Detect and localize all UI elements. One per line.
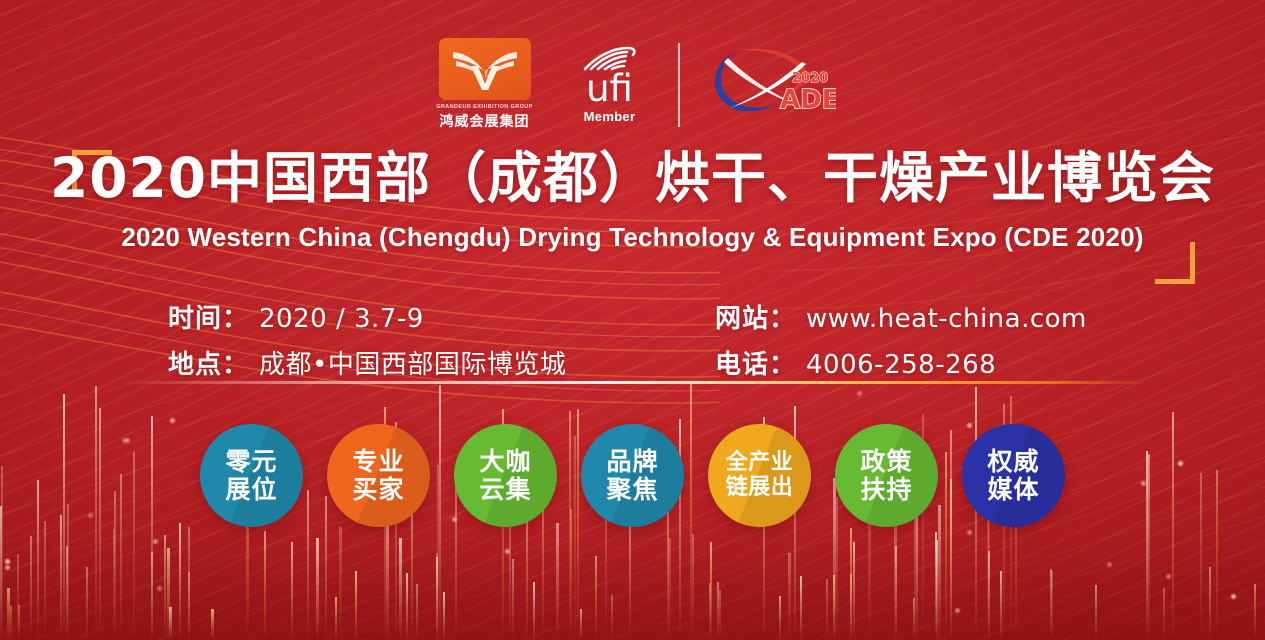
light-streak [436,553,438,640]
light-streak [1095,585,1097,640]
light-streak [1209,567,1211,640]
feature-highlights-row: 零元展位专业买家大咖云集品牌聚焦全产业链展出政策扶持权威媒体 [0,424,1265,527]
ufi-member-label: Member [584,109,636,124]
feature-line-1: 零元 [225,448,277,476]
event-info-block: 时间： 2020 / 3.7-9 地点： 成都•中国西部国际博览城 网站： ww… [0,298,1265,381]
light-streak [10,606,12,640]
light-particle [4,564,11,571]
light-particle [1106,561,1113,568]
event-website-value[interactable]: www.heat-china.com [806,304,1087,334]
light-streak [30,536,32,640]
light-streak [988,551,990,640]
event-venue-value: 成都•中国西部国际博览城 [259,344,566,381]
feature-line-2: 链展出 [726,476,794,501]
light-streak [570,509,572,640]
light-streak [533,582,535,640]
feature-line-1: 全产业 [726,451,794,476]
event-date-label: 时间： [168,298,249,335]
event-info-left-column: 时间： 2020 / 3.7-9 地点： 成都•中国西部国际博览城 [160,298,715,381]
light-streak [895,546,897,640]
light-particle [966,529,973,536]
event-venue-label: 地点： [168,344,249,381]
feature-line-1: 专业 [352,448,404,476]
feature-circle[interactable]: 零元展位 [200,424,303,527]
light-streak [935,532,937,640]
ade-logo-word: ADE [780,85,836,115]
light-streak [113,529,115,640]
logo-row: GRANDEUR EXHIBITION GROUP 鸿威会展集团 ufi Mem… [0,38,1265,131]
light-streak [710,542,712,640]
light-streak [512,559,514,640]
feature-circle[interactable]: 全产业链展出 [708,424,811,527]
light-streak [826,579,828,640]
light-streak [167,548,170,640]
light-particle [152,538,159,545]
light-streak [436,557,438,640]
event-phone-label: 电话： [715,344,796,381]
light-streak [411,509,413,640]
light-streak [709,583,711,640]
feature-line-2: 云集 [479,476,531,504]
feature-circle[interactable]: 政策扶持 [835,424,938,527]
feature-line-1: 权威 [987,448,1039,476]
light-streak [18,605,20,640]
feature-circle[interactable]: 品牌聚焦 [581,424,684,527]
light-streak [151,552,153,640]
feature-line-1: 品牌 [606,448,658,476]
light-streak [399,538,402,640]
light-particle [1165,573,1172,580]
light-particle [856,390,863,397]
ufi-member-logo: ufi Member [562,45,658,123]
light-streak [1050,569,1052,640]
logo-divider [678,43,680,127]
event-phone-value[interactable]: 4006-258-268 [806,350,996,380]
light-particle [156,585,163,592]
light-streak [164,535,166,640]
feature-line-2: 展位 [225,476,277,504]
light-streak [406,573,408,640]
event-venue-line: 地点： 成都•中国西部国际博览城 [168,344,715,381]
light-streak [611,595,613,640]
feature-line-1: 政策 [860,448,912,476]
event-website-line: 网站： www.heat-china.com [715,298,1105,335]
light-streak [853,542,855,640]
page-title-chinese: 2020中国西部（成都）烘干、干燥产业博览会 [0,150,1265,208]
light-streak [60,515,62,640]
light-particle [954,607,961,614]
light-streak [169,607,172,640]
light-streak [264,531,266,640]
light-streak [833,575,835,640]
light-streak [850,528,852,640]
feature-circle[interactable]: 大咖云集 [454,424,557,527]
light-streak [850,574,852,640]
light-particle [169,417,176,424]
grandeur-logo-chinese: 鸿威会展集团 [440,111,530,131]
light-streak [629,508,631,640]
light-streak [788,553,791,640]
light-streak [605,515,607,640]
light-streak [386,511,389,640]
event-website-label: 网站： [715,298,796,335]
event-date-line: 时间： 2020 / 3.7-9 [168,298,715,335]
light-streak [7,588,10,640]
feature-line-2: 媒体 [987,476,1039,504]
page-title-english: 2020 Western China (Chengdu) Drying Tech… [0,222,1265,253]
feature-line-2: 买家 [352,476,404,504]
light-streak [913,598,915,640]
feature-line-2: 聚焦 [606,476,658,504]
ade-swoosh-icon: 2020 ADE [706,42,836,128]
light-streak [1051,571,1053,640]
grandeur-exhibition-group-logo: GRANDEUR EXHIBITION GROUP 鸿威会展集团 [430,38,540,131]
light-streak [668,538,671,640]
light-streak [779,596,781,640]
winged-w-emblem-icon [439,38,531,100]
light-particle [4,558,11,565]
event-info-right-column: 网站： www.heat-china.com 电话： 4006-258-268 [715,298,1105,381]
expo-promo-banner: GRANDEUR EXHIBITION GROUP 鸿威会展集团 ufi Mem… [0,0,1265,640]
light-streak [339,527,342,640]
light-streak [335,597,337,640]
light-streak [1000,571,1002,640]
light-streak [800,576,802,640]
feature-circle[interactable]: 权威媒体 [962,424,1065,527]
feature-circle[interactable]: 专业买家 [327,424,430,527]
light-streak [443,592,445,640]
light-streak [188,572,190,640]
section-divider [118,381,1150,384]
light-streak [188,527,190,640]
feature-line-1: 大咖 [479,448,531,476]
event-date-value: 2020 / 3.7-9 [259,304,424,334]
light-streak [66,546,68,640]
light-streak [316,538,319,640]
light-streak [595,556,597,640]
ufi-logo-word: ufi [586,72,633,106]
light-streak [692,534,694,640]
light-streak [1163,588,1165,640]
light-streak [719,590,721,640]
feature-line-2: 扶持 [860,476,912,504]
event-phone-line: 电话： 4006-258-268 [715,344,1105,381]
light-streak [1254,584,1256,640]
light-streak [211,609,214,640]
grandeur-logo-english: GRANDEUR EXHIBITION GROUP [436,104,532,110]
light-streak [179,523,181,640]
light-particle [1230,593,1237,600]
light-streak [355,571,357,640]
light-streak [86,567,88,640]
light-particle [504,548,511,555]
light-streak [717,582,719,640]
light-streak [556,523,559,640]
light-streak [291,542,293,640]
light-streak [416,584,418,640]
light-streak [1015,515,1017,640]
light-streak [580,609,582,640]
light-streak [936,540,938,640]
light-streak [17,554,19,640]
light-streak [44,521,46,640]
ade-2020-logo: 2020 ADE [706,42,836,128]
ade-logo-year: 2020 [792,71,828,86]
